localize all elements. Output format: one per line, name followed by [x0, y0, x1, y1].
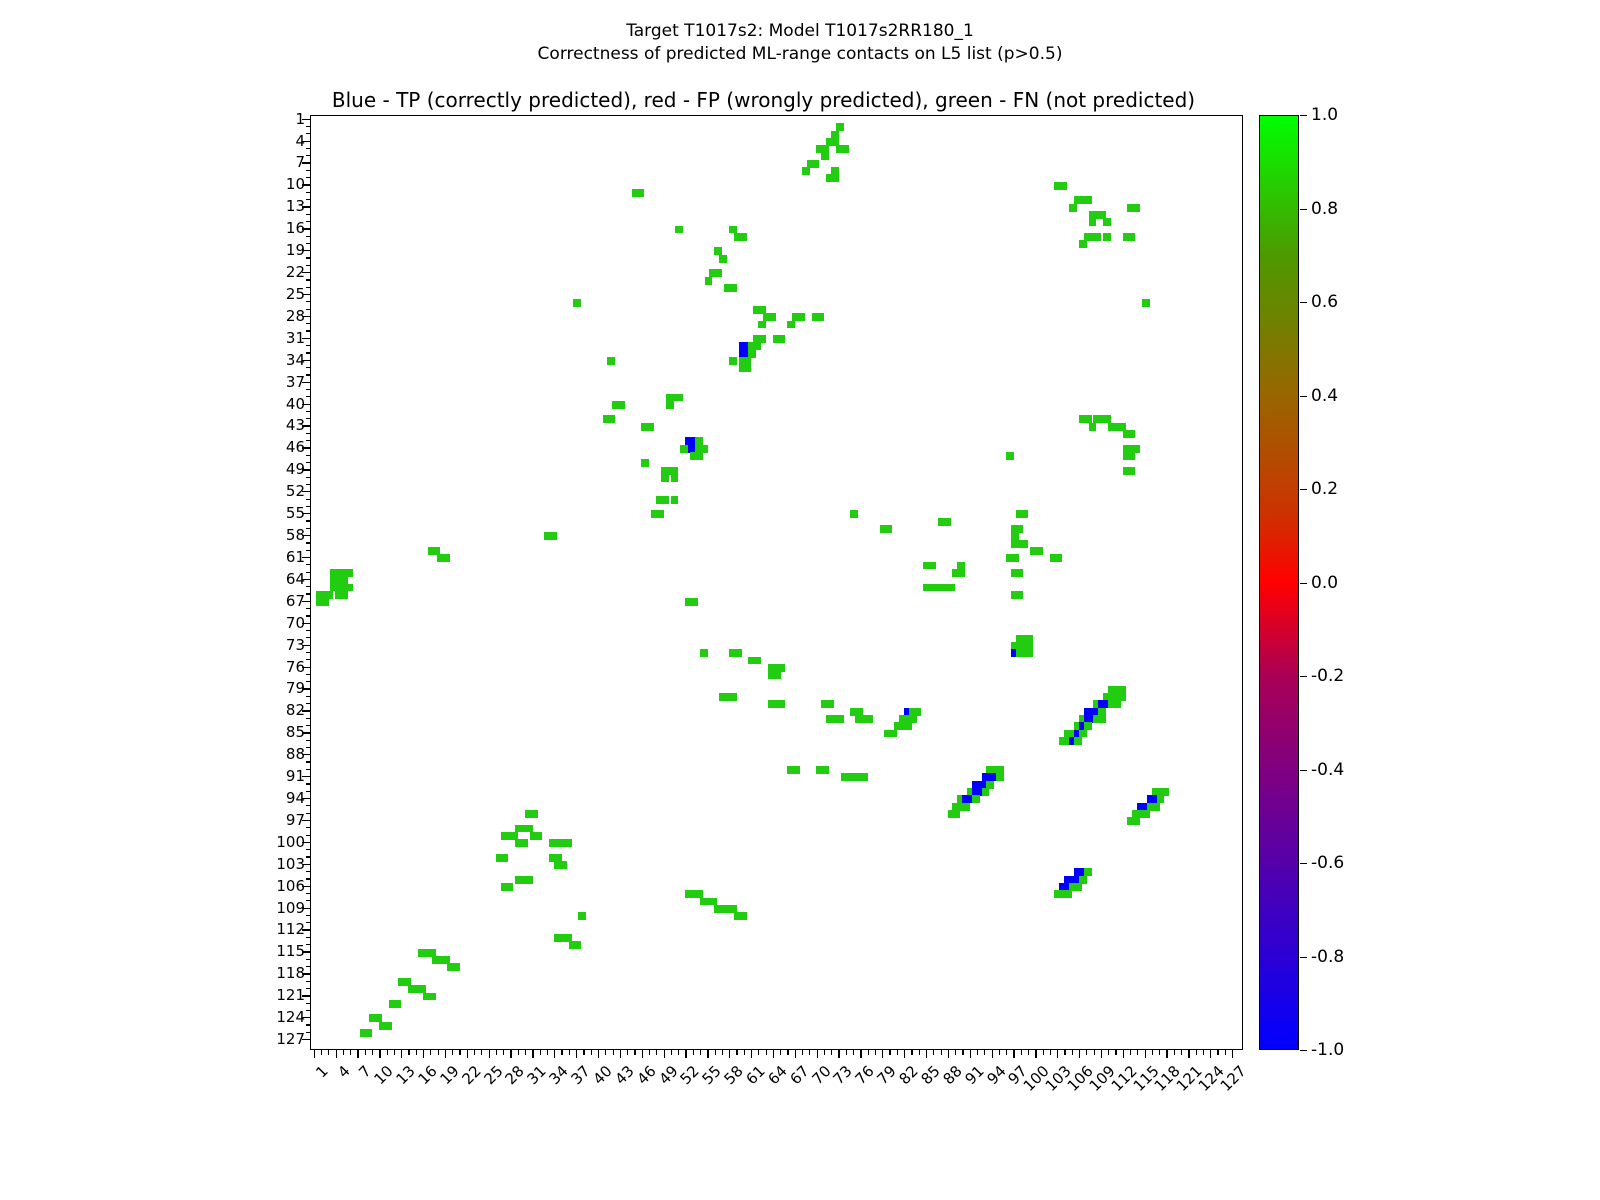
- y-tick-label: 118: [276, 964, 305, 982]
- x-tick-minor: [853, 1050, 854, 1055]
- contact-cell-fn: [695, 452, 703, 460]
- y-tick-minor: [306, 330, 311, 331]
- y-tick-minor: [306, 520, 311, 521]
- contact-cell-fn: [1132, 204, 1140, 212]
- y-tick-minor: [306, 418, 311, 419]
- contact-cell-fn: [1098, 715, 1106, 723]
- y-tick-minor: [306, 389, 311, 390]
- y-tick-minor: [306, 287, 311, 288]
- y-tick-minor: [306, 791, 311, 792]
- contact-cell-fn: [821, 766, 829, 774]
- x-tick-major: [1013, 1050, 1014, 1058]
- y-tick-minor: [306, 214, 311, 215]
- contact-cell-fn: [729, 357, 737, 365]
- contact-cells-layer: [311, 116, 1242, 1049]
- colorbar-tick: [1300, 863, 1307, 864]
- y-tick-minor: [306, 703, 311, 704]
- contact-cell-fn: [442, 554, 450, 562]
- contact-cell-fn: [850, 510, 858, 518]
- y-tick-label: 97: [286, 811, 305, 829]
- x-tick-minor: [824, 1050, 825, 1055]
- contact-cell-fn: [1152, 803, 1160, 811]
- contact-cell-fn: [739, 912, 747, 920]
- contact-cell-fn: [690, 598, 698, 606]
- y-tick-minor: [306, 915, 311, 916]
- contact-cell-fn: [836, 715, 844, 723]
- x-tick-minor: [656, 1050, 657, 1055]
- x-tick-minor: [1196, 1050, 1197, 1055]
- colorbar-tick: [1300, 489, 1307, 490]
- contact-cell-fn: [889, 730, 897, 738]
- y-tick-minor: [306, 257, 311, 258]
- contact-cell-fn: [1059, 182, 1067, 190]
- x-tick-minor: [766, 1050, 767, 1055]
- x-tick-major: [423, 1050, 424, 1058]
- y-tick-label: 94: [286, 789, 305, 807]
- y-tick-minor: [306, 484, 311, 485]
- y-tick-minor: [306, 192, 311, 193]
- colorbar-tick: [1300, 1050, 1307, 1051]
- x-tick-minor: [1174, 1050, 1175, 1055]
- figure-suptitle: Target T1017s2: Model T1017s2RR180_1 Cor…: [0, 20, 1600, 66]
- x-tick-major: [314, 1050, 315, 1058]
- contact-cell-fn: [1064, 890, 1072, 898]
- y-tick-label: 67: [286, 592, 305, 610]
- x-tick-minor: [671, 1050, 672, 1055]
- y-tick-label: 79: [286, 679, 305, 697]
- contact-cell-fn: [1011, 554, 1019, 562]
- contact-cell-fn: [675, 226, 683, 234]
- contact-cell-fn: [573, 299, 581, 307]
- y-tick-minor: [306, 528, 311, 529]
- x-tick-major: [685, 1050, 686, 1058]
- y-tick-minor: [306, 1024, 311, 1025]
- y-tick-label: 16: [286, 219, 305, 237]
- y-tick-minor: [306, 630, 311, 631]
- x-tick-minor: [328, 1050, 329, 1055]
- y-tick-minor: [306, 477, 311, 478]
- y-tick-label: 46: [286, 438, 305, 456]
- y-tick-minor: [306, 849, 311, 850]
- y-tick-minor: [306, 637, 311, 638]
- contact-cell-fn: [646, 423, 654, 431]
- y-tick-minor: [306, 674, 311, 675]
- x-tick-major: [1210, 1050, 1211, 1058]
- y-tick-minor: [306, 440, 311, 441]
- colorbar-tick-label: -0.8: [1311, 947, 1344, 967]
- contact-cell-fn: [1103, 218, 1111, 226]
- y-tick-minor: [306, 783, 311, 784]
- x-tick-major: [948, 1050, 949, 1058]
- contact-cell-fn: [617, 401, 625, 409]
- y-tick-label: 76: [286, 658, 305, 676]
- contact-cell-fn: [982, 788, 990, 796]
- x-tick-minor: [955, 1050, 956, 1055]
- colorbar-tick: [1300, 209, 1307, 210]
- contact-cell-fn: [505, 883, 513, 891]
- x-tick-major: [336, 1050, 337, 1058]
- y-tick-minor: [306, 462, 311, 463]
- contact-cell-fn: [607, 357, 615, 365]
- y-tick-minor: [306, 893, 311, 894]
- contact-cell-fn: [778, 700, 786, 708]
- y-tick-label: 7: [295, 153, 305, 171]
- x-tick-minor: [321, 1050, 322, 1055]
- contact-cell-fn: [384, 1022, 392, 1030]
- y-tick-minor: [306, 740, 311, 741]
- x-tick-major: [1166, 1050, 1167, 1058]
- contact-cell-fn: [1127, 233, 1135, 241]
- y-tick-minor: [306, 301, 311, 302]
- contact-cell-fn: [884, 525, 892, 533]
- contact-cell-fn: [758, 321, 766, 329]
- x-tick-minor: [787, 1050, 788, 1055]
- y-tick-minor: [306, 433, 311, 434]
- contact-cell-fn: [1089, 423, 1097, 431]
- contact-cell-fn: [364, 1029, 372, 1037]
- contact-cell-fn: [559, 861, 567, 869]
- y-tick-minor: [306, 367, 311, 368]
- colorbar-tick: [1300, 957, 1307, 958]
- y-tick-minor: [306, 981, 311, 982]
- contact-cell-fn: [549, 532, 557, 540]
- y-tick-minor: [306, 871, 311, 872]
- y-tick-minor: [306, 323, 311, 324]
- x-tick-major: [620, 1050, 621, 1058]
- y-tick-minor: [306, 550, 311, 551]
- y-tick-minor: [306, 937, 311, 938]
- y-tick-minor: [306, 944, 311, 945]
- y-tick-label: 124: [276, 1008, 305, 1026]
- x-tick-minor: [831, 1050, 832, 1055]
- x-tick-minor: [1006, 1050, 1007, 1055]
- y-tick-minor: [306, 966, 311, 967]
- contact-cell-fn: [826, 700, 834, 708]
- y-tick-minor: [306, 761, 311, 762]
- y-tick-label: 34: [286, 351, 305, 369]
- axes-title: Blue - TP (correctly predicted), red - F…: [0, 88, 1527, 112]
- y-tick-minor: [306, 265, 311, 266]
- contact-cell-fn: [768, 313, 776, 321]
- contact-cell-fn: [773, 671, 781, 679]
- y-tick-minor: [306, 747, 311, 748]
- y-tick-minor: [306, 659, 311, 660]
- contact-cell-fn: [671, 474, 679, 482]
- contact-cell-fn: [1142, 810, 1150, 818]
- x-tick-minor: [561, 1050, 562, 1055]
- contact-cell-fn: [1011, 540, 1019, 548]
- y-tick-minor: [306, 805, 311, 806]
- contact-cell-fn: [821, 153, 829, 161]
- colorbar-tick-label: 0.2: [1311, 479, 1338, 499]
- contact-cell-fn: [573, 941, 581, 949]
- y-tick-minor: [306, 499, 311, 500]
- x-tick-minor: [911, 1050, 912, 1055]
- x-tick-minor: [503, 1050, 504, 1055]
- contact-cell-fn: [1127, 452, 1135, 460]
- contact-cell-fn: [535, 832, 543, 840]
- x-tick-minor: [1217, 1050, 1218, 1055]
- contact-cell-fn: [729, 284, 737, 292]
- y-tick-label: 25: [286, 285, 305, 303]
- x-tick-minor: [1072, 1050, 1073, 1055]
- x-tick-minor: [693, 1050, 694, 1055]
- y-tick-minor: [306, 279, 311, 280]
- x-tick-minor: [474, 1050, 475, 1055]
- x-tick-minor: [613, 1050, 614, 1055]
- x-tick-minor: [780, 1050, 781, 1055]
- x-tick-minor: [459, 1050, 460, 1055]
- x-tick-minor: [1028, 1050, 1029, 1055]
- contact-cell-fn: [1079, 240, 1087, 248]
- y-tick-minor: [306, 148, 311, 149]
- y-tick-label: 43: [286, 416, 305, 434]
- y-tick-minor: [306, 572, 311, 573]
- contact-cell-fn: [578, 912, 586, 920]
- contact-cell-fn: [530, 810, 538, 818]
- x-tick-minor: [1181, 1050, 1182, 1055]
- x-tick-minor: [1108, 1050, 1109, 1055]
- y-tick-minor: [306, 199, 311, 200]
- x-tick-major: [642, 1050, 643, 1058]
- x-tick-minor: [1152, 1050, 1153, 1055]
- y-tick-label: 70: [286, 614, 305, 632]
- x-tick-minor: [736, 1050, 737, 1055]
- y-tick-label: 127: [276, 1030, 305, 1048]
- contact-cell-fn: [700, 649, 708, 657]
- y-tick-minor: [306, 455, 311, 456]
- contact-cell-fn: [1084, 196, 1092, 204]
- contact-map-plot[interactable]: [310, 115, 1243, 1050]
- y-tick-label: 73: [286, 636, 305, 654]
- y-tick-minor: [306, 1003, 311, 1004]
- x-tick-major: [445, 1050, 446, 1058]
- y-tick-label: 31: [286, 329, 305, 347]
- y-tick-label: 40: [286, 395, 305, 413]
- colorbar-tick-label: 1.0: [1311, 105, 1338, 125]
- x-tick-major: [489, 1050, 490, 1058]
- y-tick-label: 4: [295, 132, 305, 150]
- x-tick-minor: [744, 1050, 745, 1055]
- contact-cell-fn: [394, 1000, 402, 1008]
- y-tick-minor: [306, 696, 311, 697]
- x-tick-minor: [1159, 1050, 1160, 1055]
- contact-cell-fn: [729, 693, 737, 701]
- x-tick-minor: [540, 1050, 541, 1055]
- colorbar-tick: [1300, 115, 1307, 116]
- y-tick-label: 109: [276, 899, 305, 917]
- x-tick-minor: [591, 1050, 592, 1055]
- y-tick-minor: [306, 725, 311, 726]
- contact-cell-fn: [1089, 218, 1097, 226]
- y-tick-label: 1: [295, 110, 305, 128]
- contact-cell-fn: [501, 854, 509, 862]
- x-tick-minor: [649, 1050, 650, 1055]
- x-tick-major: [773, 1050, 774, 1058]
- x-tick-minor: [1115, 1050, 1116, 1055]
- x-tick-minor: [1043, 1050, 1044, 1055]
- x-tick-minor: [1050, 1050, 1051, 1055]
- contact-cell-fn: [452, 963, 460, 971]
- x-tick-major: [926, 1050, 927, 1058]
- x-tick-major: [598, 1050, 599, 1058]
- x-tick-major: [510, 1050, 511, 1058]
- contact-cell-fn: [778, 335, 786, 343]
- contact-cell-fn: [1006, 452, 1014, 460]
- y-tick-minor: [306, 922, 311, 923]
- y-tick-minor: [306, 564, 311, 565]
- contact-cell-fn: [831, 174, 839, 182]
- contact-cell-fn: [1069, 204, 1077, 212]
- x-tick-minor: [962, 1050, 963, 1055]
- contact-cell-fn: [792, 766, 800, 774]
- x-tick-minor: [387, 1050, 388, 1055]
- contact-cell-fn: [952, 810, 960, 818]
- colorbar-tick-label: -0.2: [1311, 666, 1344, 686]
- contact-cell-fn: [428, 993, 436, 1001]
- x-tick-minor: [350, 1050, 351, 1055]
- x-tick-minor: [977, 1050, 978, 1055]
- colorbar-tick-label: -0.4: [1311, 760, 1344, 780]
- y-tick-minor: [306, 352, 311, 353]
- contact-cell-fn: [1074, 883, 1082, 891]
- contact-cell-fn: [661, 496, 669, 504]
- x-tick-minor: [496, 1050, 497, 1055]
- y-tick-label: 10: [286, 175, 305, 193]
- contact-cell-fn: [787, 321, 795, 329]
- x-tick-minor: [438, 1050, 439, 1055]
- x-tick-minor: [343, 1050, 344, 1055]
- y-tick-minor: [306, 1032, 311, 1033]
- colorbar-gradient: [1259, 115, 1299, 1050]
- y-tick-label: 28: [286, 307, 305, 325]
- x-tick-major: [379, 1050, 380, 1058]
- figure-canvas: Target T1017s2: Model T1017s2RR180_1 Cor…: [0, 0, 1600, 1200]
- x-tick-minor: [1021, 1050, 1022, 1055]
- x-tick-minor: [372, 1050, 373, 1055]
- y-tick-label: 19: [286, 241, 305, 259]
- contact-cell-fn: [860, 773, 868, 781]
- x-tick-minor: [430, 1050, 431, 1055]
- contact-cell-fn: [1020, 510, 1028, 518]
- contact-cell-fn: [680, 445, 688, 453]
- colorbar-tick-label: 0.4: [1311, 386, 1338, 406]
- contact-cell-fn: [962, 803, 970, 811]
- y-tick-minor: [306, 243, 311, 244]
- contact-cell-fn: [1016, 591, 1024, 599]
- colorbar-tick: [1300, 583, 1307, 584]
- x-tick-minor: [394, 1050, 395, 1055]
- y-tick-minor: [306, 856, 311, 857]
- contact-cell-fn: [1142, 299, 1150, 307]
- x-tick-minor: [1130, 1050, 1131, 1055]
- colorbar-tick: [1300, 676, 1307, 677]
- contact-cell-fn: [996, 773, 1004, 781]
- contact-cell-fn: [719, 255, 727, 263]
- y-tick-minor: [306, 1010, 311, 1011]
- y-tick-label: 58: [286, 526, 305, 544]
- contact-cell-fn: [1054, 554, 1062, 562]
- colorbar-tick-label: 0.6: [1311, 292, 1338, 312]
- y-tick-minor: [306, 769, 311, 770]
- contact-cell-fn: [797, 313, 805, 321]
- x-tick-minor: [802, 1050, 803, 1055]
- contact-cell-fn: [753, 657, 761, 665]
- y-tick-label: 121: [276, 986, 305, 1004]
- x-tick-minor: [933, 1050, 934, 1055]
- y-tick-minor: [306, 900, 311, 901]
- contact-cell-fn: [1025, 649, 1033, 657]
- x-tick-minor: [875, 1050, 876, 1055]
- y-tick-minor: [306, 126, 311, 127]
- x-tick-major: [707, 1050, 708, 1058]
- contact-cell-fn: [816, 313, 824, 321]
- contact-cell-fn: [1035, 547, 1043, 555]
- x-tick-major: [1101, 1050, 1102, 1058]
- y-tick-label: 49: [286, 460, 305, 478]
- y-tick-minor: [306, 374, 311, 375]
- contact-cell-fn: [734, 649, 742, 657]
- y-tick-minor: [306, 827, 311, 828]
- x-tick-minor: [715, 1050, 716, 1055]
- contact-cell-fn: [1016, 569, 1024, 577]
- y-tick-label: 13: [286, 197, 305, 215]
- y-tick-minor: [306, 155, 311, 156]
- x-tick-major: [1232, 1050, 1233, 1058]
- x-tick-minor: [999, 1050, 1000, 1055]
- colorbar-tick: [1300, 302, 1307, 303]
- contact-cell-fn: [705, 277, 713, 285]
- x-tick-major: [401, 1050, 402, 1058]
- contact-cell-fn: [1020, 540, 1028, 548]
- x-tick-major: [1145, 1050, 1146, 1058]
- x-tick-minor: [897, 1050, 898, 1055]
- x-tick-minor: [634, 1050, 635, 1055]
- colorbar-tick-label: -0.6: [1311, 853, 1344, 873]
- contact-cell-fn: [904, 722, 912, 730]
- contact-cell-fn: [1093, 233, 1101, 241]
- y-tick-label: 112: [276, 920, 305, 938]
- x-tick-minor: [518, 1050, 519, 1055]
- y-tick-minor: [306, 506, 311, 507]
- colorbar-tick: [1300, 770, 1307, 771]
- y-tick-minor: [306, 878, 311, 879]
- x-tick-minor: [569, 1050, 570, 1055]
- contact-cell-fn: [739, 233, 747, 241]
- x-tick-major: [992, 1050, 993, 1058]
- x-tick-major: [1188, 1050, 1189, 1058]
- x-tick-minor: [941, 1050, 942, 1055]
- x-tick-major: [1035, 1050, 1036, 1058]
- contact-cell-fn: [564, 839, 572, 847]
- y-tick-label: 88: [286, 745, 305, 763]
- y-tick-minor: [306, 177, 311, 178]
- y-tick-label: 106: [276, 877, 305, 895]
- y-tick-label: 91: [286, 767, 305, 785]
- x-tick-minor: [481, 1050, 482, 1055]
- x-tick-major: [970, 1050, 971, 1058]
- x-tick-major: [554, 1050, 555, 1058]
- x-tick-minor: [1086, 1050, 1087, 1055]
- y-tick-minor: [306, 236, 311, 237]
- y-tick-minor: [306, 988, 311, 989]
- y-tick-label: 52: [286, 482, 305, 500]
- y-tick-label: 37: [286, 373, 305, 391]
- x-tick-minor: [583, 1050, 584, 1055]
- y-tick-label: 22: [286, 263, 305, 281]
- x-tick-minor: [605, 1050, 606, 1055]
- colorbar-tick-label: 0.0: [1311, 573, 1338, 593]
